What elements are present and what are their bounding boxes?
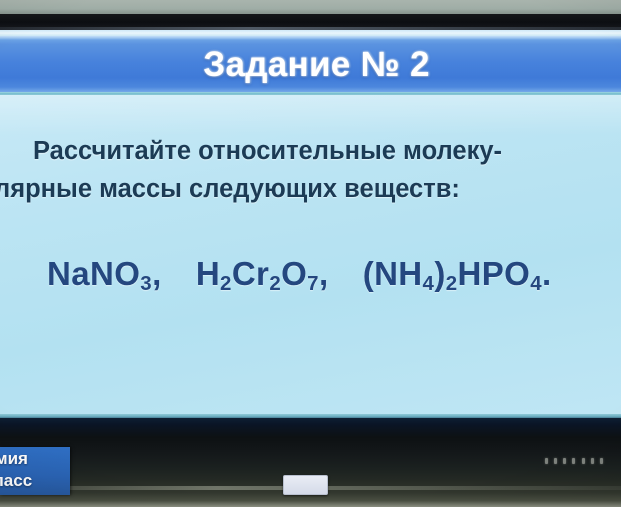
formula-nh42hpo4: (NH4)2HPO4. [363, 255, 552, 292]
formula-h2cr2o7: H2Cr2O7, [196, 255, 329, 292]
display-indicator-lights[interactable] [545, 457, 603, 464]
subscript-2: 2 [269, 272, 281, 295]
subscript-2: 2 [220, 272, 232, 295]
subscript-7: 7 [307, 272, 319, 295]
subscript-4: 4 [530, 272, 542, 295]
indicator-led [591, 458, 594, 464]
subscript-3: 3 [140, 272, 152, 295]
lesson-subject-label: мия [0, 449, 28, 469]
chemical-formulas: NaNO3, H2Cr2O7, (NH4)2HPO4. [47, 255, 552, 293]
slide-content: Рассчитайте относительные молеку- лярные… [0, 95, 621, 418]
indicator-led [554, 458, 557, 464]
lesson-grade-label: ласс [0, 471, 32, 491]
indicator-led [582, 458, 585, 464]
display-screen: Задание № 2 Рассчитайте относительные мо… [0, 30, 621, 418]
stand-sticker [283, 475, 328, 495]
screen-glare [0, 95, 621, 135]
screenshot-root: Задание № 2 Рассчитайте относительные мо… [0, 0, 621, 507]
indicator-led [563, 458, 566, 464]
slide-body-line-2: лярные массы следующих веществ: [0, 175, 460, 204]
indicator-led [572, 458, 575, 464]
lesson-subject-badge: мия ласс [0, 447, 70, 495]
formula-nano3: NaNO3, [47, 255, 162, 292]
slide-body-line-1: Рассчитайте относительные молеку- [33, 137, 502, 166]
indicator-led [600, 458, 603, 464]
subscript-2: 2 [446, 272, 458, 295]
slide-title: Задание № 2 [203, 45, 429, 85]
indicator-led [545, 458, 548, 464]
slide-title-band: Задание № 2 [0, 36, 621, 94]
subscript-4: 4 [423, 272, 435, 295]
